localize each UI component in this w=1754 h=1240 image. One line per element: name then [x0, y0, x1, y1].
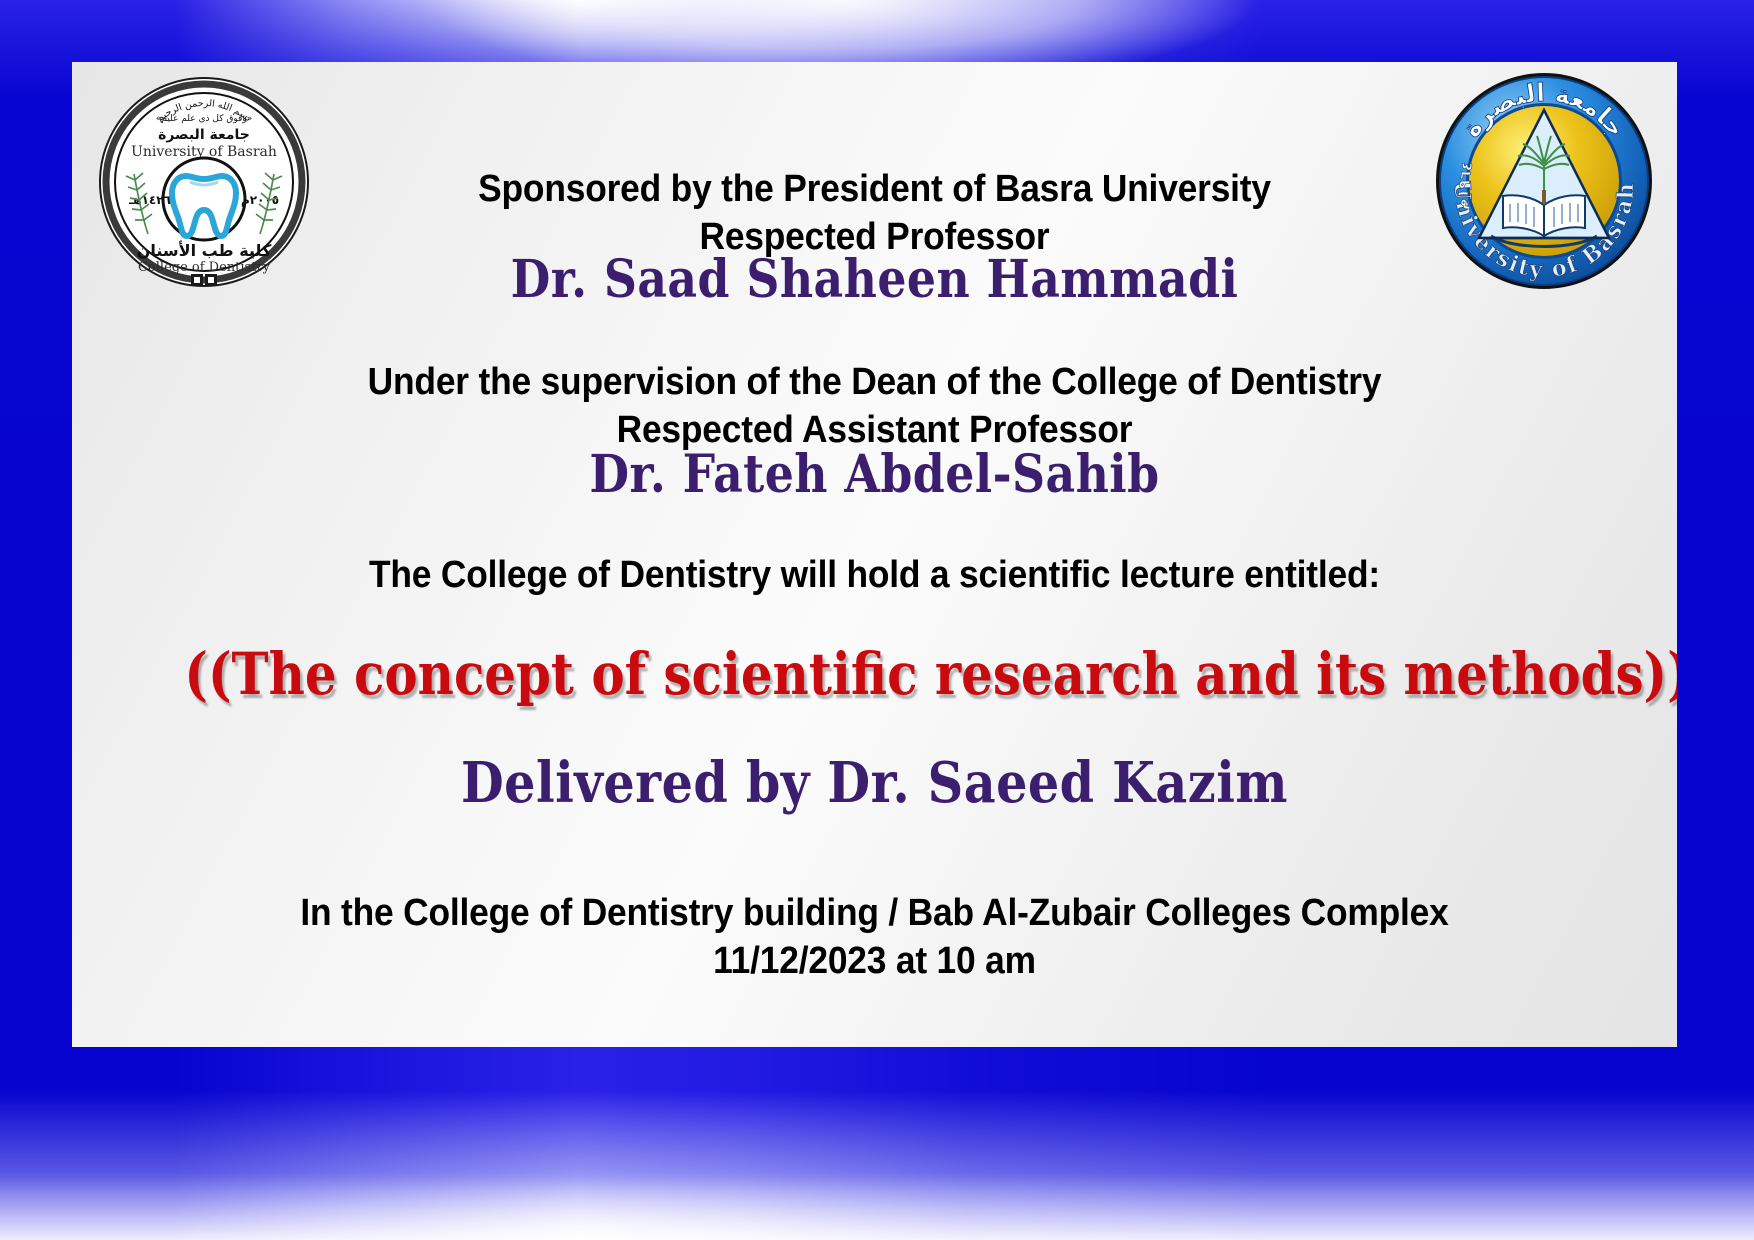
- supervision-line-1: Under the supervision of the Dean of the…: [128, 359, 1621, 407]
- lecture-title: ((The concept of scientific research and…: [184, 640, 1564, 708]
- supervision-block: Under the supervision of the Dean of the…: [72, 359, 1677, 455]
- announcement-poster: بسم الله الرحمن الرحيم «وفوق كل ذي علم ع…: [0, 0, 1754, 1240]
- sponsor-block: Sponsored by the President of Basra Univ…: [72, 166, 1677, 262]
- datetime-line: 11/12/2023 at 10 am: [128, 938, 1621, 986]
- venue-block: In the College of Dentistry building / B…: [72, 890, 1677, 986]
- sponsor-line-1: Sponsored by the President of Basra Univ…: [128, 166, 1621, 214]
- announcement-line: The College of Dentistry will hold a sci…: [128, 552, 1621, 600]
- venue-line: In the College of Dentistry building / B…: [128, 890, 1621, 938]
- speaker-name: Delivered by Dr. Saeed Kazim: [168, 750, 1580, 816]
- poster-text-content: Sponsored by the President of Basra Univ…: [72, 62, 1677, 1047]
- poster-card: بسم الله الرحمن الرحيم «وفوق كل ذي علم ع…: [72, 62, 1677, 1047]
- dean-name: Dr. Fateh Abdel-Sahib: [168, 444, 1580, 505]
- announcement-block: The College of Dentistry will hold a sci…: [72, 552, 1677, 600]
- president-name: Dr. Saad Shaheen Hammadi: [168, 249, 1580, 310]
